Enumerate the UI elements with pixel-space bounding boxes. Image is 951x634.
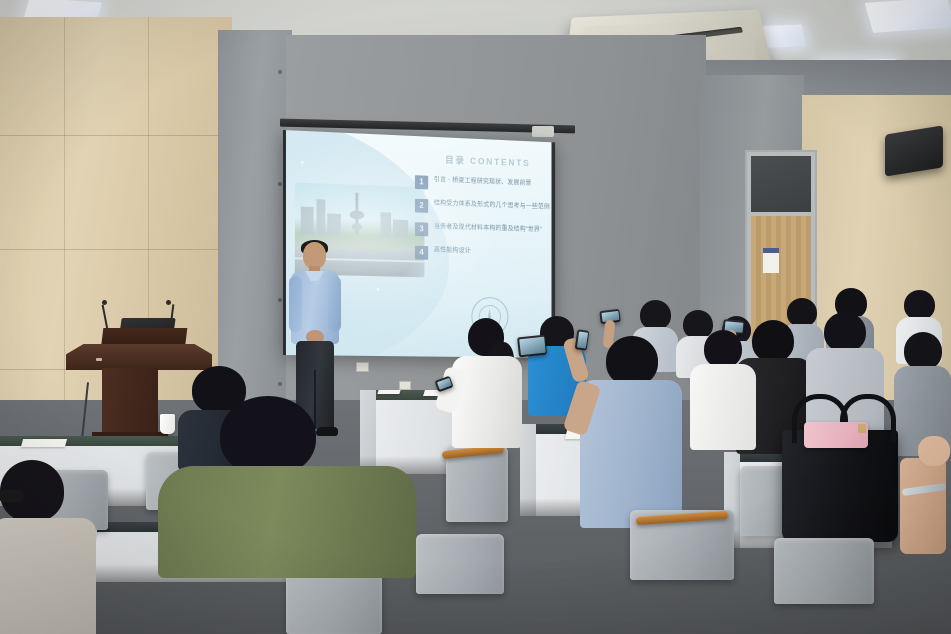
leather-tote-bag (782, 430, 898, 542)
slide-item-number: 1 (415, 175, 428, 189)
slide-item-4: 4 高性能构设计 (415, 246, 551, 263)
door-transom-window (751, 156, 811, 212)
smartphone-raised-4[interactable] (517, 335, 547, 358)
presenter-head (303, 242, 326, 269)
slide-item-number: 4 (415, 246, 428, 260)
ceiling-light-7 (865, 0, 951, 33)
paper-stack-left-desk (21, 439, 67, 447)
head (904, 290, 935, 320)
audience-person-glasses-front-left (0, 460, 96, 634)
slide-item-text: 当务者及现代材料本构的重及结构“世界” (434, 223, 542, 235)
presenter-arm-left (289, 276, 302, 332)
slide-bullet-list: 1 引言 - 桥梁工程研究现状、发展前景 2 结构受力体系及形式的几个思考与一些… (415, 175, 551, 272)
audience-person-white-shirt (452, 318, 522, 448)
slide-item-text: 高性能构设计 (434, 246, 471, 255)
wallet-clasp (858, 424, 866, 433)
slide-item-3: 3 当务者及现代材料本构的重及结构“世界” (415, 222, 551, 240)
hand (918, 436, 950, 466)
head (640, 300, 671, 330)
lectern-body (102, 368, 158, 440)
audience-person-far-right (894, 332, 951, 452)
head (220, 396, 316, 476)
lectern-knob (96, 358, 102, 361)
seat-front-4[interactable] (416, 534, 504, 594)
eyeglasses-icon (0, 490, 24, 502)
head (904, 332, 942, 370)
slide-item-text: 结构受力体系及形式的几个思考与一些范例 (434, 199, 550, 211)
door-sign (763, 248, 779, 273)
torso (0, 518, 96, 634)
torso (158, 466, 416, 578)
lectern-cable (81, 382, 89, 440)
torso (690, 364, 756, 450)
presenter-arm-right (328, 276, 341, 332)
head (752, 320, 794, 362)
audience-person-hand-right (900, 440, 951, 560)
slide-title: 目录 CONTENTS (428, 152, 547, 170)
pink-wallet (804, 422, 868, 448)
slide-item-2: 2 结构受力体系及形式的几个思考与一些范例 (415, 199, 551, 217)
audience-person-green-tee (158, 396, 416, 572)
slide-item-1: 1 引言 - 桥梁工程研究现状、发展前景 (415, 175, 551, 194)
slide-item-text: 引言 - 桥梁工程研究现状、发展前景 (434, 176, 532, 188)
forearm (900, 458, 946, 554)
slide-item-number: 3 (415, 222, 428, 236)
head (824, 312, 866, 352)
head (606, 336, 658, 386)
slide-tower-landmark (355, 193, 358, 235)
notebook-edge-left (377, 390, 400, 394)
head (704, 330, 742, 368)
microphone-head-right (166, 300, 171, 305)
screen-bracket (532, 126, 554, 137)
seat-front-6[interactable] (774, 538, 874, 604)
slide-item-number: 2 (415, 199, 428, 213)
wall-outlet-mid (399, 381, 411, 390)
audience-person-white-tee-right (690, 330, 756, 446)
microphone-head-left (102, 300, 107, 305)
audience-person-light-blue (580, 336, 682, 526)
lecture-hall-photo: 目录 CONTENTS 1 引言 - 桥梁工程研究现状、发展前景 2 结构受力体… (0, 0, 951, 634)
